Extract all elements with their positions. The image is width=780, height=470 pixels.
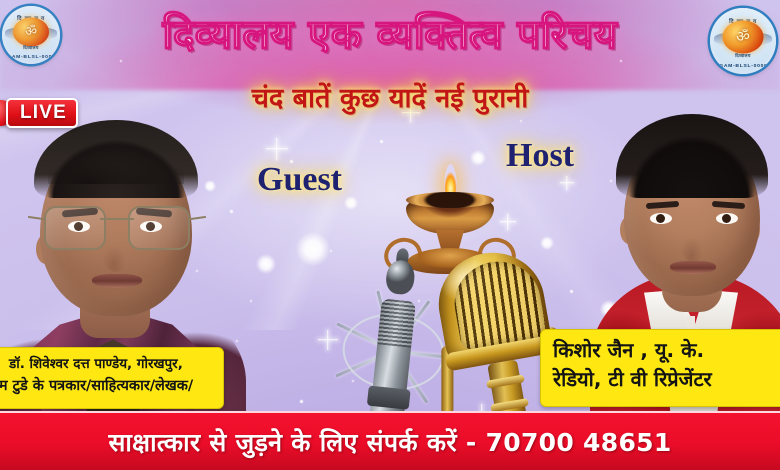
page-subtitle: चंद बातें कुछ यादें नई पुरानी <box>0 84 780 114</box>
host-eye-right <box>716 213 738 224</box>
host-caption-line1: किशोर जैन , यू. के. <box>541 330 780 363</box>
lamp-rim <box>406 192 494 208</box>
page-title: दिव्यालय एक व्यक्तित्व परिचय <box>0 14 780 56</box>
host-eye-left <box>650 213 672 224</box>
host-mouth <box>670 261 716 274</box>
logo-arc-text: UGAM-BLSL-00001 <box>710 64 776 70</box>
host-caption-line2: रेडियो, टी वी रिप्रेजेंटर <box>541 363 780 392</box>
guest-caption-line2: ग्राम टुडे के पत्रकार/साहित्यकार/लेखक/ <box>0 372 223 395</box>
guest-caption-line1: डॉ. शिवेश्वर दत्त पाण्डेय, गोरखपुर, <box>0 348 223 372</box>
mic-grille <box>377 298 416 347</box>
broadcast-poster: दि व्या ल य ॐ दिव्यालय UGAM-BLSL-00001 द… <box>0 0 780 470</box>
mic-head-grille <box>448 255 547 351</box>
host-role-label: Host <box>506 137 574 175</box>
guest-caption-box: डॉ. शिवेश्वर दत्त पाण्डेय, गोरखपुर, ग्रा… <box>0 347 224 409</box>
host-nose <box>680 226 706 262</box>
guest-eyeglasses <box>44 206 190 250</box>
mic-clamp <box>367 386 411 410</box>
guest-hair-fringe <box>48 150 184 184</box>
contact-banner-text: साक्षात्कार से जुड़ने के लिए संपर्क करें… <box>108 425 671 459</box>
contact-banner: साक्षात्कार से जुड़ने के लिए संपर्क करें… <box>0 411 780 470</box>
guest-role-label: Guest <box>257 161 342 199</box>
host-caption-box: किशोर जैन , यू. के. रेडियो, टी वी रिप्रे… <box>540 329 780 407</box>
host-hair <box>616 114 768 198</box>
guest-chin <box>80 286 154 312</box>
mic-capsule <box>385 259 416 296</box>
